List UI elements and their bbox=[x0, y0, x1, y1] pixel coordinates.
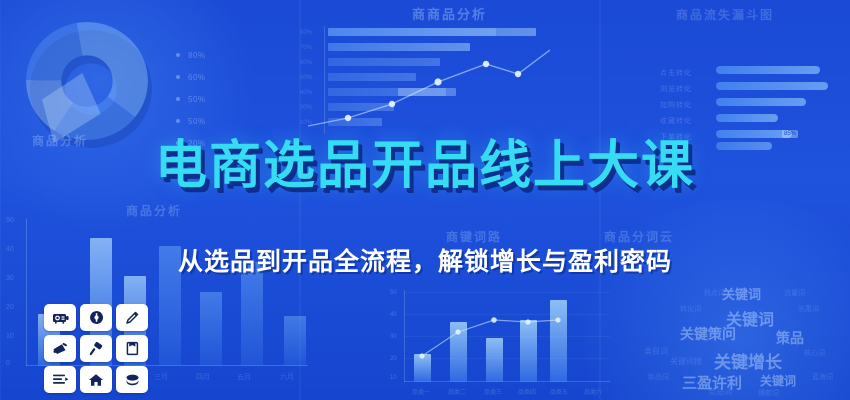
right-bar-badge: 85% bbox=[782, 130, 798, 138]
cloud-word: 关键词搜 bbox=[670, 356, 702, 367]
mid-chart-x-tick: 品类四 bbox=[518, 387, 536, 396]
cloud-word: 关键词 bbox=[760, 372, 796, 389]
right-bar bbox=[716, 82, 828, 90]
poster-canvas: 80% 60% 50% 50% 20% 商品分析 商商品分析 80% 70% 6… bbox=[0, 0, 850, 400]
cloud-word: 竞品词 bbox=[708, 386, 732, 397]
mid-chart-x-tick: 品类一 bbox=[412, 387, 430, 396]
mid-bar-line-widget: 50 40 30 20 10 品类一 品类二 品类三 品类四 品类五 品类六 bbox=[390, 290, 610, 398]
cloud-word: 关键词 bbox=[722, 284, 761, 303]
notebook-icon[interactable] bbox=[116, 335, 148, 362]
icon-grid bbox=[44, 304, 148, 393]
bottom-bars-y-tick: 10 bbox=[6, 333, 14, 340]
donut-chart-widget: 80% 60% 50% 50% 20% bbox=[8, 18, 218, 143]
bottom-bars-x-tick: 四月 bbox=[196, 372, 210, 382]
list-arrow-icon[interactable] bbox=[44, 366, 76, 393]
legend-value: 60% bbox=[188, 73, 206, 82]
word-cloud-widget: 关键词 关键词 关键策问 策品 关键增长 三盈许利 关键词 关键词搜 热点词 流… bbox=[608, 272, 850, 400]
projector-icon[interactable] bbox=[44, 304, 76, 331]
bottom-bar bbox=[284, 316, 306, 366]
top-bars-title: 商商品分析 bbox=[412, 4, 487, 23]
cloud-word: 爆款词 bbox=[758, 388, 779, 398]
cloud-word: 核心词 bbox=[804, 348, 825, 358]
mid-chart-line bbox=[390, 290, 610, 398]
legend-dot-icon bbox=[176, 75, 180, 79]
legend-item: 50% bbox=[176, 88, 206, 110]
bottom-bars-x-tick: 六月 bbox=[280, 372, 294, 382]
right-bar bbox=[716, 66, 820, 74]
legend-value: 50% bbox=[188, 95, 206, 104]
legend-item: 60% bbox=[176, 66, 206, 88]
cloud-word: 策品 bbox=[776, 328, 804, 348]
cloud-word: 关键策问 bbox=[680, 324, 736, 344]
mid-chart-x-tick: 品类五 bbox=[550, 387, 568, 396]
contrast-circle-icon[interactable] bbox=[80, 304, 112, 331]
bottom-bar bbox=[200, 292, 222, 366]
bottom-bars-x-tick: 五月 bbox=[237, 372, 251, 382]
legend-dot-icon bbox=[176, 97, 180, 101]
legend-item: 50% bbox=[176, 110, 206, 132]
cloud-word: 转化词 bbox=[680, 304, 701, 314]
mid-chart-x-tick: 品类二 bbox=[448, 387, 466, 396]
cloud-word: 流量词 bbox=[784, 288, 805, 298]
right-horizontal-bars-widget: 点击转化 浏览转化 加购转化 收藏转化 下单转化 85% bbox=[660, 20, 850, 140]
bottom-bars-y-tick: 20 bbox=[6, 304, 14, 311]
bottom-bars-x-tick: 三月 bbox=[154, 372, 168, 382]
pencil-icon[interactable] bbox=[116, 304, 148, 331]
top-line-overlay bbox=[300, 30, 550, 140]
cloud-word: 新品词 bbox=[648, 372, 669, 382]
home-icon[interactable] bbox=[80, 366, 112, 393]
mid-chart-x-tick: 品类六 bbox=[584, 387, 602, 396]
megaphone-icon[interactable] bbox=[44, 335, 76, 362]
legend-value: 50% bbox=[188, 117, 206, 126]
legend-dot-icon bbox=[176, 119, 180, 123]
cloud-word: 类目词 bbox=[644, 346, 668, 357]
mid-chart-x-tick: 品类三 bbox=[484, 387, 502, 396]
right-bar bbox=[716, 98, 806, 106]
legend-dot-icon bbox=[176, 53, 180, 57]
legend-value: 80% bbox=[188, 51, 206, 60]
page-title: 电商选品开品线上大课 bbox=[0, 140, 850, 192]
cloud-word: 长尾词 bbox=[798, 304, 819, 314]
right-bar bbox=[716, 114, 778, 122]
legend-item: 80% bbox=[176, 44, 206, 66]
bottom-bars-y-tick: 0 bbox=[6, 360, 10, 367]
cloud-word: 热点词 bbox=[704, 288, 725, 298]
stack-disc-icon[interactable] bbox=[116, 366, 148, 393]
gavel-icon[interactable] bbox=[80, 335, 112, 362]
right-bar-label: 浏览转化 bbox=[660, 84, 692, 94]
cloud-word: 关键增长 bbox=[714, 348, 782, 373]
right-bar bbox=[716, 130, 792, 138]
bottom-bars-y-tick: 50 bbox=[6, 217, 14, 224]
right-bar-label: 加购转化 bbox=[660, 100, 692, 110]
page-subtitle: 从选品到开品全流程，解锁增长与盈利密码 bbox=[0, 242, 850, 278]
cloud-word: 蓝海词 bbox=[812, 372, 833, 382]
right-bar-label: 点击转化 bbox=[660, 68, 692, 78]
right-bar-label: 收藏转化 bbox=[660, 116, 692, 126]
donut-ring bbox=[26, 22, 148, 140]
